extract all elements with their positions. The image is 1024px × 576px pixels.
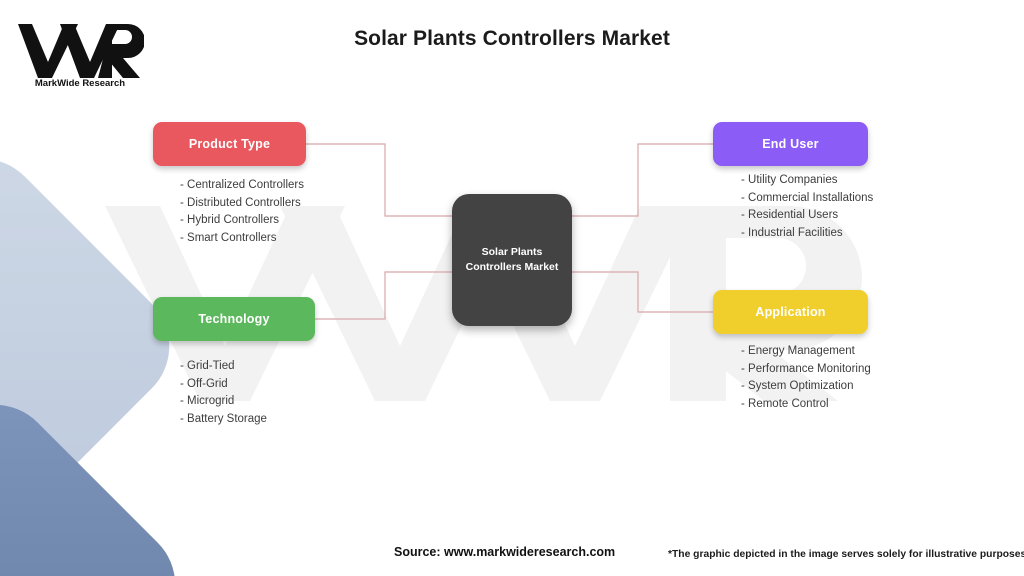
list-item: - Battery Storage — [180, 411, 267, 429]
connector-product-type — [306, 144, 452, 216]
list-item: - Commercial Installations — [741, 190, 873, 208]
list-end-user: - Utility Companies - Commercial Install… — [741, 172, 873, 242]
node-application-label: Application — [755, 305, 825, 319]
list-item: - Distributed Controllers — [180, 195, 304, 213]
list-item: - Smart Controllers — [180, 230, 304, 248]
center-line-2: Controllers Market — [466, 260, 559, 275]
list-technology: - Grid-Tied - Off-Grid - Microgrid - Bat… — [180, 358, 267, 428]
list-item: - Energy Management — [741, 343, 871, 361]
connector-application — [572, 272, 713, 312]
list-item: - Centralized Controllers — [180, 177, 304, 195]
list-item: - Residential Users — [741, 207, 873, 225]
connector-end-user — [572, 144, 713, 216]
node-end-user[interactable]: End User — [713, 122, 868, 166]
list-product-type: - Centralized Controllers - Distributed … — [180, 177, 304, 247]
list-item: - System Optimization — [741, 378, 871, 396]
list-item: - Grid-Tied — [180, 358, 267, 376]
node-end-user-label: End User — [762, 137, 818, 151]
list-item: - Hybrid Controllers — [180, 212, 304, 230]
decorative-shape-light — [0, 134, 194, 558]
node-product-type-label: Product Type — [189, 137, 270, 151]
list-item: - Utility Companies — [741, 172, 873, 190]
decorative-shape-dark — [0, 380, 200, 576]
node-technology[interactable]: Technology — [153, 297, 315, 341]
node-product-type[interactable]: Product Type — [153, 122, 306, 166]
list-application: - Energy Management - Performance Monito… — [741, 343, 871, 413]
infographic-canvas: MarkWide Research Inspiring Growth Solar… — [0, 0, 1024, 576]
connector-technology — [315, 272, 452, 319]
center-line-1: Solar Plants — [482, 245, 543, 260]
node-technology-label: Technology — [198, 312, 269, 326]
footer-disclaimer: *The graphic depicted in the image serve… — [668, 549, 1024, 560]
page-title: Solar Plants Controllers Market — [0, 27, 1024, 51]
list-item: - Microgrid — [180, 393, 267, 411]
node-center-market[interactable]: Solar Plants Controllers Market — [452, 194, 572, 326]
node-application[interactable]: Application — [713, 290, 868, 334]
list-item: - Performance Monitoring — [741, 361, 871, 379]
footer-source: Source: www.markwideresearch.com — [394, 545, 615, 559]
list-item: - Off-Grid — [180, 376, 267, 394]
list-item: - Remote Control — [741, 396, 871, 414]
logo-name: MarkWide Research — [35, 78, 125, 89]
list-item: - Industrial Facilities — [741, 225, 873, 243]
